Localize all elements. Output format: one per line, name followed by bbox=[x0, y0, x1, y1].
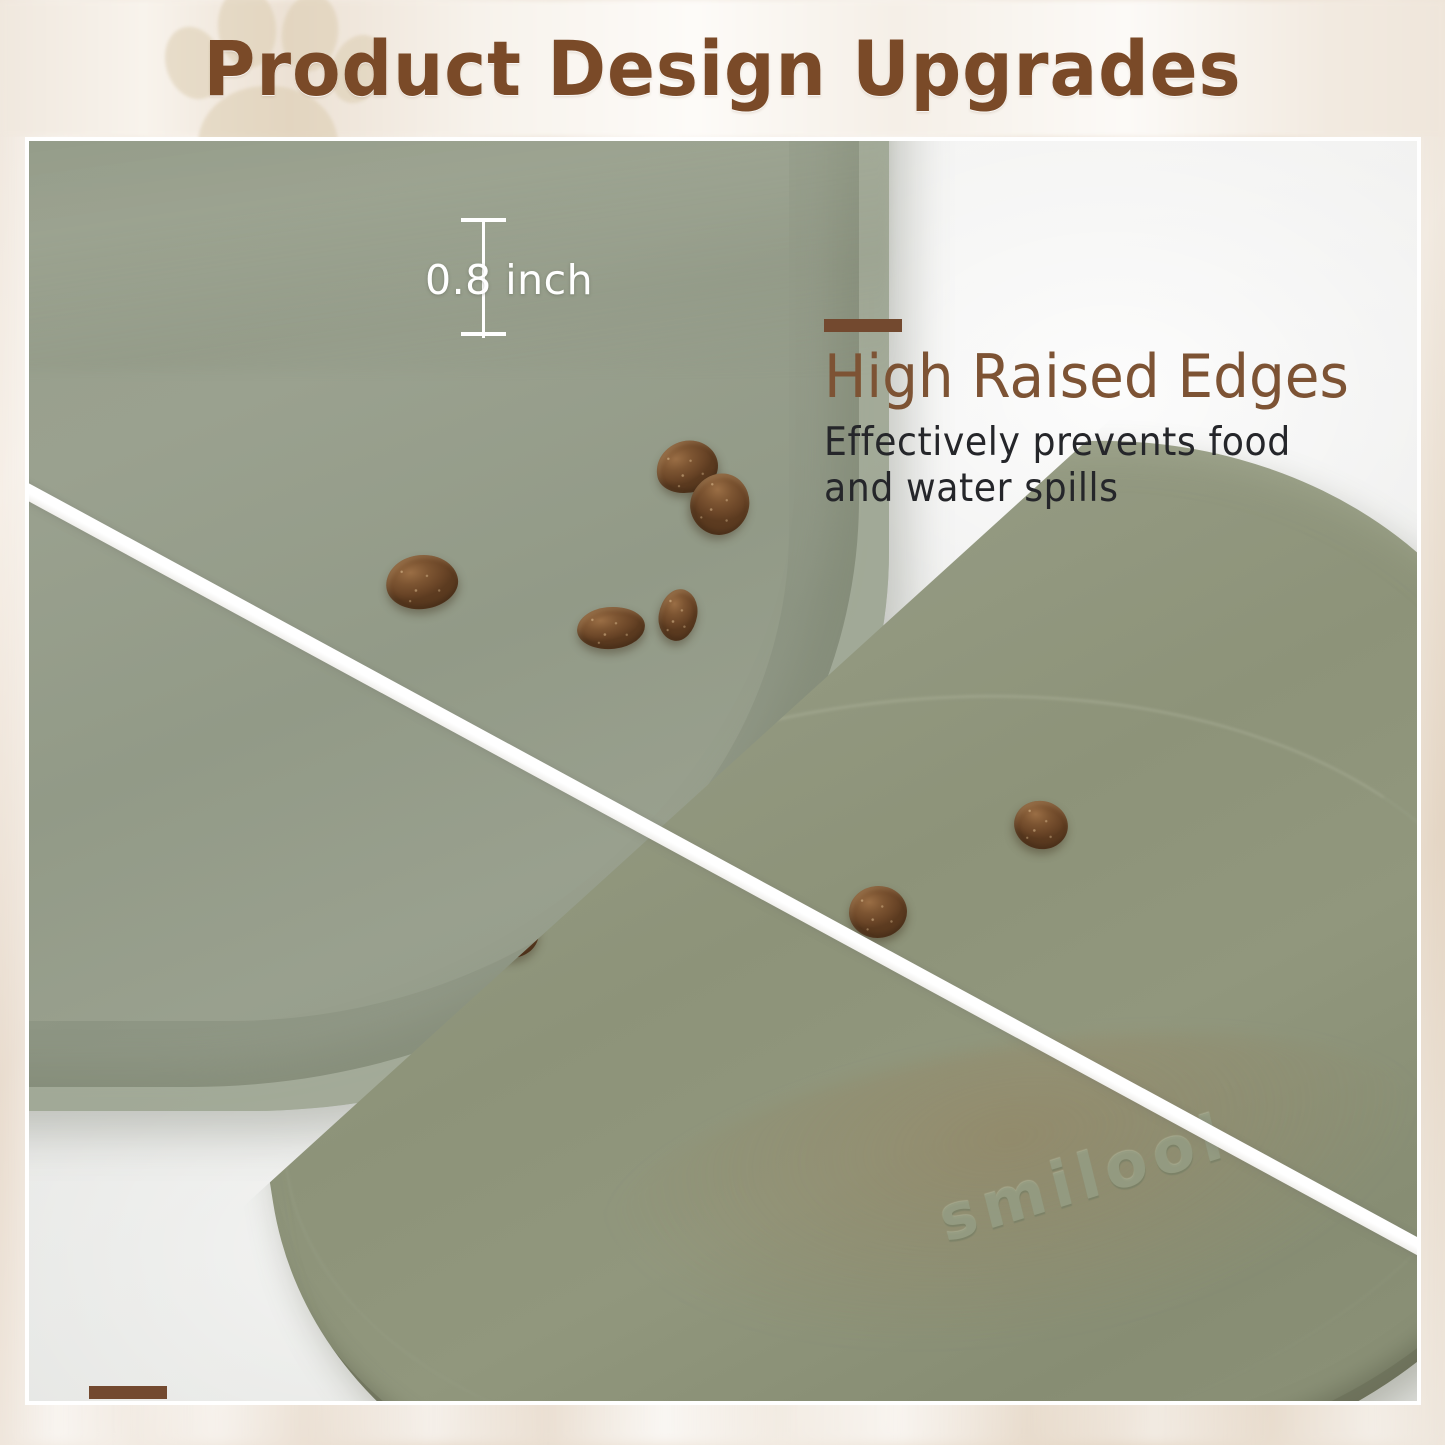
dimension-cap-bottom-icon bbox=[461, 332, 506, 336]
dimension-callout: 0.8 inch bbox=[427, 214, 617, 349]
callout-title: High Raised Edges bbox=[824, 346, 1349, 410]
dimension-cap-top-icon bbox=[461, 218, 506, 222]
callout-rule bbox=[89, 1386, 167, 1399]
dimension-label: 0.8 inch bbox=[425, 256, 593, 304]
callout-rule bbox=[824, 319, 902, 332]
product-photo: smilool 0.8 inch High Raised Edges Effec… bbox=[29, 141, 1417, 1401]
product-photo-frame: smilool 0.8 inch High Raised Edges Effec… bbox=[25, 137, 1421, 1405]
callout-high-raised-edges: High Raised Edges Effectively prevents f… bbox=[824, 319, 1382, 513]
callout-subtitle-line1: Effectively prevents food bbox=[824, 420, 1343, 467]
callout-subtitle-line2: and water spills bbox=[824, 466, 1343, 513]
page-title: Product Design Upgrades bbox=[51, 0, 1395, 137]
header-banner: Product Design Upgrades bbox=[0, 0, 1445, 137]
callout-keeping-floor-clean: Keeping the floor clean Minimizes time s… bbox=[89, 1386, 1064, 1401]
